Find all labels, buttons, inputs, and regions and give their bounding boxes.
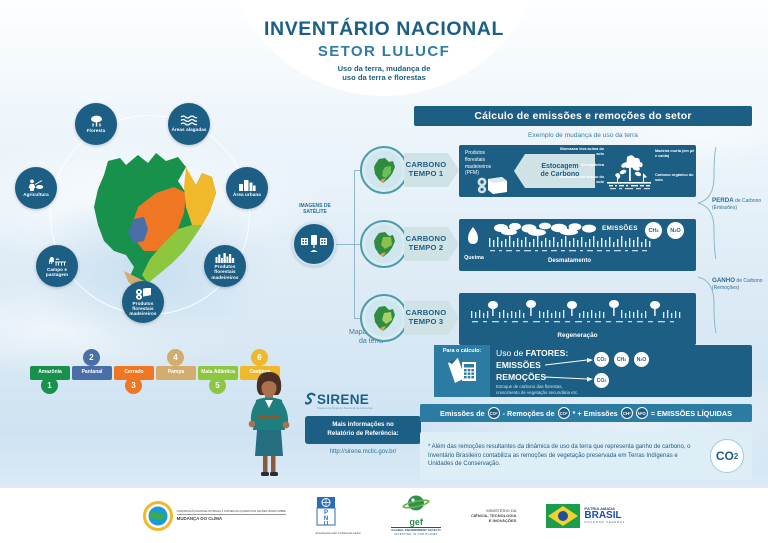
carbon-time-2-tag: CARBONO TEMPO 2 xyxy=(404,227,448,261)
gef-wordmark: gef xyxy=(391,518,441,526)
pfm-label: Produtos florestais madeireiros (PFM) xyxy=(465,150,507,177)
emissions-factor-label: EMISSÕES xyxy=(496,360,541,370)
satellite-icon xyxy=(301,234,327,254)
page-tagline: Uso da terra, mudança de uso da terra e … xyxy=(224,64,544,83)
logo-subcaption: INVESTING IN OUR PLANET xyxy=(391,533,441,536)
biome-number-5: 5 xyxy=(209,377,226,394)
biome-number-3: 3 xyxy=(125,377,142,394)
cattle-icon xyxy=(48,255,67,266)
row-2-box: Queima xyxy=(459,219,696,271)
logs-icon xyxy=(477,176,509,194)
gas-bubble-n2o: N2O xyxy=(634,352,649,367)
tree-icon xyxy=(89,115,104,127)
svg-text:U: U xyxy=(324,521,328,527)
brazil-flag-icon xyxy=(546,504,580,528)
footnote-box: * Além das remoções resultantes da dinâm… xyxy=(420,432,752,480)
pool-label-carbono-organico: Carbono orgânico do solo xyxy=(655,173,697,182)
gain-side-label: GANHO de Carbono (Remoções) xyxy=(712,277,768,292)
logo-mudanca-do-clima: COMUNICAÇÃO NACIONAL DO BRASIL À CONVENÇ… xyxy=(143,501,286,531)
report-link-button[interactable]: Mais informações no Relatório de Referên… xyxy=(305,416,421,444)
footnote-co2-bubble: CO2 xyxy=(710,439,744,473)
sidebar-item-area-urbana[interactable]: Área urbana xyxy=(226,167,268,209)
sidebar-item-produtos-florestais[interactable]: Produtos florestais madeireiros xyxy=(122,281,164,323)
calc-panel-title: Cálculo de emissões e remoções do setor xyxy=(414,106,752,126)
timeline-node-2[interactable] xyxy=(360,220,408,268)
water-waves-icon xyxy=(180,115,198,126)
emission-gas-bubbles: CO2 CH4 N2O xyxy=(594,352,649,367)
side-braces xyxy=(696,145,718,345)
factor-arrows xyxy=(545,358,595,384)
timeline-node-3[interactable] xyxy=(360,294,408,342)
sidebar-item-label: Áreas alagadas xyxy=(171,127,206,132)
logo-brasil: PÁTRIA AMADA BRASIL GOVERNO FEDERAL xyxy=(546,504,625,528)
sidebar-item-label: Agricultura xyxy=(23,192,49,197)
page-subtitle: SETOR LULUCF xyxy=(224,43,544,60)
logo-caption: COMUNICAÇÃO NACIONAL DO BRASIL À CONVENÇ… xyxy=(177,510,286,513)
sidebar-item-label: Campo e pastagem xyxy=(36,267,78,278)
pool-label-biomassa-acima: Biomassa viva acima do solo xyxy=(556,147,604,156)
emissions-label: EMISSÕES xyxy=(602,225,638,232)
eq-bubble-ch4: CH4 xyxy=(621,407,633,419)
logo-pnud: P N U Empoderando vidas. Fortalecendo na… xyxy=(316,497,362,535)
satellite-node[interactable] xyxy=(292,222,336,266)
row-1-box: Produtos florestais madeireiros (PFM) Es… xyxy=(459,145,696,197)
gas-bubble-ch4: CH4 xyxy=(645,222,662,239)
logo-title: MUDANÇA DO CLIMA xyxy=(177,514,286,522)
gas-bubble-co2: CO2 xyxy=(594,352,609,367)
satellite-label: IMAGENS DE SATÉLITE xyxy=(286,203,344,215)
gef-globe-icon xyxy=(401,495,431,513)
biome-chip-pantanal[interactable]: Pantanal xyxy=(72,366,112,380)
sidebar-item-label: Floresta xyxy=(87,128,106,133)
sirene-subtitle: Sistema de Registro Nacional de Emissões xyxy=(305,407,421,410)
sidebar-item-agricultura[interactable]: Agricultura xyxy=(15,167,57,209)
sirene-logo: SIRENE xyxy=(305,392,421,407)
logs-icon xyxy=(135,288,152,300)
flame-icon xyxy=(465,227,481,249)
removal-gas-bubbles: CO2 xyxy=(594,373,609,388)
net-emissions-equation: Emissões de CO2 - Remoções de CO2 * + Em… xyxy=(420,404,752,422)
city-buildings-icon xyxy=(238,179,256,191)
footnote-text: * Além das remoções resultantes da dinâm… xyxy=(428,443,704,469)
timeline-node-1[interactable] xyxy=(360,146,408,194)
sirene-url[interactable]: http://sirene.mctic.gov.br/ xyxy=(305,449,421,455)
sidebar-item-areas-alagadas[interactable]: Áreas alagadas xyxy=(168,103,210,145)
farmer-icon xyxy=(27,179,45,191)
sidebar-item-outros-usos[interactable]: Produtos florestais madeireiros xyxy=(204,245,246,287)
eq-bubble-co2: CO2 xyxy=(558,407,570,419)
sidebar-item-campo-pastagem[interactable]: Campo e pastagem xyxy=(36,245,78,287)
example-label: Exemplo de mudança de uso da terra xyxy=(414,132,752,139)
biome-number-4: 4 xyxy=(167,349,184,366)
deforestation-caption: Desmatamento xyxy=(487,258,652,264)
brasil-wordmark: BRASIL xyxy=(584,511,625,521)
land-use-wheel: Floresta Áreas alagadas Área urbana Prod… xyxy=(18,105,283,320)
sidebar-item-label: Produtos florestais madeireiros xyxy=(204,264,246,280)
loss-side-label: PERDA de Carbono (Emissões) xyxy=(712,197,768,212)
regeneration-caption: Regeneração xyxy=(459,332,696,339)
connector-sat xyxy=(336,244,354,245)
carbon-time-1-tag: CARBONO TEMPO 1 xyxy=(404,153,448,187)
brasil-line3: GOVERNO FEDERAL xyxy=(584,521,625,524)
factors-title: Uso de FATORES: xyxy=(496,348,568,358)
sidebar-item-label: Produtos florestais madeireiros xyxy=(122,301,164,317)
sidebar-item-label: Área urbana xyxy=(233,192,261,197)
biome-number-2: 2 xyxy=(83,349,100,366)
pnud-logo-icon: P N U xyxy=(316,497,336,527)
gas-bubble-ch4: CH4 xyxy=(614,352,629,367)
logo-caption: GLOBAL ENVIRONMENT FACILITY xyxy=(391,527,441,532)
logo-mctic: MINISTÉRIO DA CIÊNCIA, TECNOLOGIA E INOV… xyxy=(471,508,516,523)
biome-chip-pampa[interactable]: Pampa xyxy=(156,366,196,380)
pool-label-biomassa-abaixo: Biomassa viva abaixo do solo xyxy=(556,175,604,184)
row-3-box: Regeneração xyxy=(459,293,696,345)
page-title: INVENTÁRIO NACIONAL xyxy=(224,18,544,41)
brazil-map-icon-1 xyxy=(371,155,397,185)
sirene-wordmark: SIRENE xyxy=(317,392,369,407)
pool-label-serrapilheira: Serrapilheira xyxy=(556,163,604,168)
logo-caption: Empoderando vidas. Fortalecendo nações. xyxy=(316,532,362,535)
document-calculator-icon xyxy=(446,356,478,384)
forest-carbon-pools-illustration xyxy=(605,151,653,193)
brazil-map-icon-2 xyxy=(371,229,397,259)
pool-label-madeira-morta: Madeira morta (em pé e caída) xyxy=(655,149,697,158)
para-calculo-block: Para o cálculo: xyxy=(434,345,490,397)
carbon-time-3-tag: CARBONO TEMPO 3 xyxy=(404,301,448,335)
biome-number-6: 6 xyxy=(251,349,268,366)
regeneration-illustration xyxy=(469,299,684,329)
factors-subnote: Estoque de carbono das florestas, cresci… xyxy=(496,384,578,396)
brazil-map-icon-3 xyxy=(371,303,397,333)
eq-bubble-co2: CO2 xyxy=(488,407,500,419)
sidebar-item-floresta[interactable]: Floresta xyxy=(75,103,117,145)
presenter-illustration xyxy=(238,368,300,478)
eq-bubble-n2o: N2O xyxy=(636,407,648,419)
logo-gef: gef GLOBAL ENVIRONMENT FACILITY INVESTIN… xyxy=(391,495,441,536)
burn-label: Queima xyxy=(462,255,486,261)
header: INVENTÁRIO NACIONAL SETOR LULUCF Uso da … xyxy=(224,18,544,83)
ministry-line3: E INOVAÇÕES xyxy=(471,518,516,523)
sirene-block: SIRENE Sistema de Registro Nacional de E… xyxy=(305,392,421,455)
footer-logos: COMUNICAÇÃO NACIONAL DO BRASIL À CONVENÇ… xyxy=(0,488,768,543)
para-calculo-label: Para o cálculo: xyxy=(443,348,481,354)
removals-factor-label: REMOÇÕES xyxy=(496,372,546,382)
gas-bubble-co2: CO2 xyxy=(594,373,609,388)
globe-logo-icon xyxy=(143,501,173,531)
skyline-icon xyxy=(215,252,235,263)
biome-number-1: 1 xyxy=(41,377,58,394)
sirene-swirl-icon xyxy=(305,392,316,407)
gas-bubble-n2o: N2O xyxy=(667,222,684,239)
